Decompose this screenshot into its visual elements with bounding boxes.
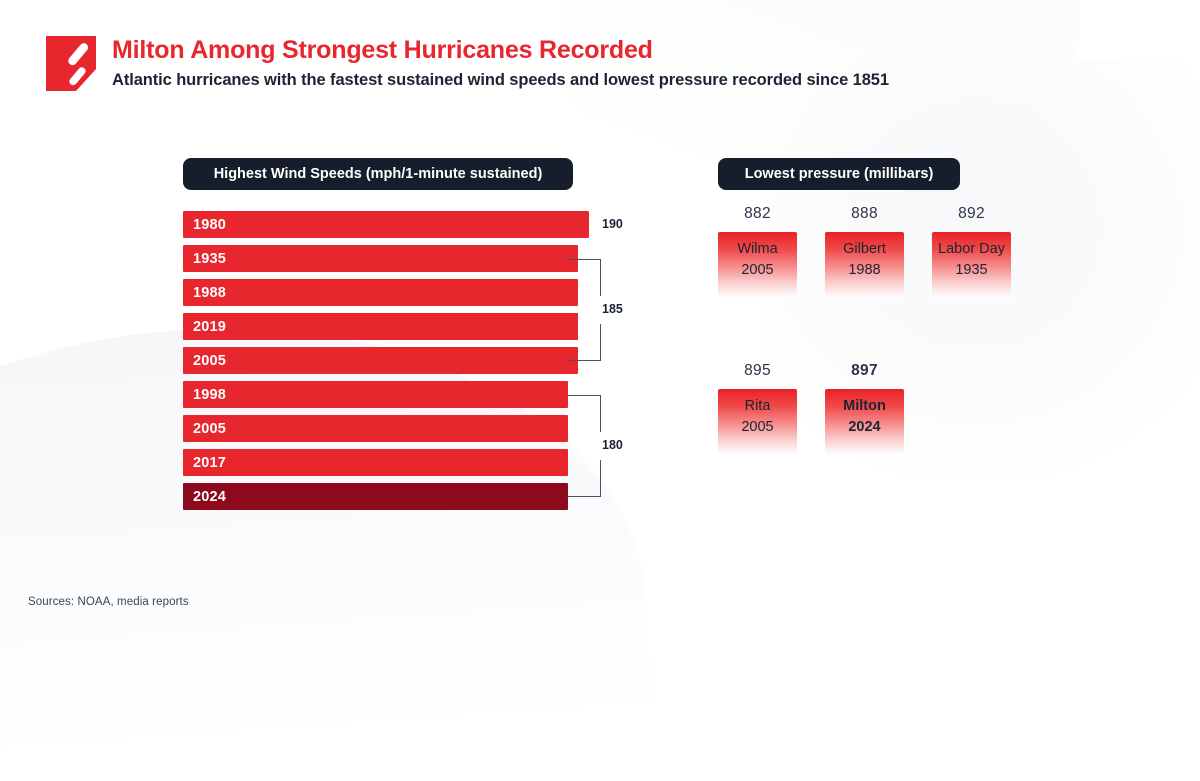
- bar-fill: 2005: [183, 415, 568, 442]
- pressure-value-label: 882: [718, 205, 797, 223]
- bar-year-label: 2005: [183, 421, 226, 437]
- bar-track: 1988: [183, 279, 578, 306]
- pressure-hurricane-name: Wilma: [737, 239, 777, 260]
- pressure-card: 895Rita2005: [718, 362, 797, 455]
- pressure-row: 882Wilma2005888Gilbert1988892Labor Day19…: [718, 205, 1011, 298]
- bar-track: 2019: [183, 313, 578, 340]
- sources-note: Sources: NOAA, media reports: [28, 596, 189, 608]
- bar-year-label: 2005: [183, 353, 226, 369]
- bar-year-label: 2024: [183, 489, 226, 505]
- bar-row: Mitch1998: [0, 378, 660, 412]
- bar-year-label: 2019: [183, 319, 226, 335]
- pressure-hurricane-name: Rita: [745, 396, 771, 417]
- bar-fill: 1935: [183, 245, 578, 272]
- bar-track: 1980: [183, 211, 589, 238]
- header-text: Milton Among Strongest Hurricanes Record…: [112, 34, 889, 90]
- bar-row: Milton2024: [0, 480, 660, 514]
- bar-row: Allen1980: [0, 208, 660, 242]
- wind-speed-bar-chart: Allen1980Labor Day1935Gilbert1988Dorian2…: [0, 208, 660, 514]
- bar-row: Labor Day1935: [0, 242, 660, 276]
- bar-fill-highlighted: 2024: [183, 483, 568, 510]
- pressure-value-label: 895: [718, 362, 797, 380]
- pressure-row: 895Rita2005897Milton2024: [718, 362, 1011, 455]
- pressure-hurricane-name: Gilbert: [843, 239, 886, 260]
- pressure-hurricane-year: 2005: [741, 260, 773, 281]
- pressure-hurricane-name: Labor Day: [938, 239, 1005, 260]
- pressure-hurricane-year: 1988: [848, 260, 880, 281]
- header: Milton Among Strongest Hurricanes Record…: [46, 34, 889, 91]
- bar-row: Gilbert1988: [0, 276, 660, 310]
- pressure-card-body: Milton2024: [825, 389, 904, 455]
- bar-fill: 2017: [183, 449, 568, 476]
- bar-row: Rita2005: [0, 412, 660, 446]
- pressure-hurricane-name: Milton: [843, 396, 886, 417]
- bar-track: 2005: [183, 347, 578, 374]
- bar-fill: 1998: [183, 381, 568, 408]
- bar-year-label: 1988: [183, 285, 226, 301]
- pressure-hurricane-year: 2024: [848, 417, 880, 438]
- bar-row: Irma2017: [0, 446, 660, 480]
- pressure-card: 888Gilbert1988: [825, 205, 904, 298]
- bar-track: 1935: [183, 245, 578, 272]
- pressure-card-body: Labor Day1935: [932, 232, 1011, 298]
- bar-track: 2024: [183, 483, 568, 510]
- bar-track: 2017: [183, 449, 568, 476]
- pressure-card-body: Rita2005: [718, 389, 797, 455]
- pressure-panel-header: Lowest pressure (millibars): [718, 158, 960, 190]
- pressure-card-body: Wilma2005: [718, 232, 797, 298]
- bar-fill: 1988: [183, 279, 578, 306]
- lowest-pressure-card-grid: 882Wilma2005888Gilbert1988892Labor Day19…: [718, 205, 1011, 455]
- page-subtitle: Atlantic hurricanes with the fastest sus…: [112, 71, 889, 90]
- bar-row: Wilma2005: [0, 344, 660, 378]
- bar-year-label: 1998: [183, 387, 226, 403]
- brand-square-slash-logo-icon: [46, 36, 96, 91]
- bar-row: Dorian2019: [0, 310, 660, 344]
- pressure-card-highlighted: 897Milton2024: [825, 362, 904, 455]
- pressure-value-label: 892: [932, 205, 1011, 223]
- pressure-card: 892Labor Day1935: [932, 205, 1011, 298]
- page-title: Milton Among Strongest Hurricanes Record…: [112, 37, 889, 65]
- pressure-hurricane-year: 2005: [741, 417, 773, 438]
- bar-year-label: 1935: [183, 251, 226, 267]
- bar-year-label: 1980: [183, 217, 226, 233]
- pressure-value-label: 888: [825, 205, 904, 223]
- bar-year-label: 2017: [183, 455, 226, 471]
- bar-fill: 2005: [183, 347, 578, 374]
- pressure-hurricane-year: 1935: [955, 260, 987, 281]
- bar-track: 2005: [183, 415, 568, 442]
- bar-fill: 1980: [183, 211, 589, 238]
- wind-panel-header: Highest Wind Speeds (mph/1-minute sustai…: [183, 158, 573, 190]
- bar-track: 1998: [183, 381, 568, 408]
- bar-fill: 2019: [183, 313, 578, 340]
- pressure-value-label: 897: [825, 362, 904, 380]
- pressure-card: 882Wilma2005: [718, 205, 797, 298]
- pressure-card-body: Gilbert1988: [825, 232, 904, 298]
